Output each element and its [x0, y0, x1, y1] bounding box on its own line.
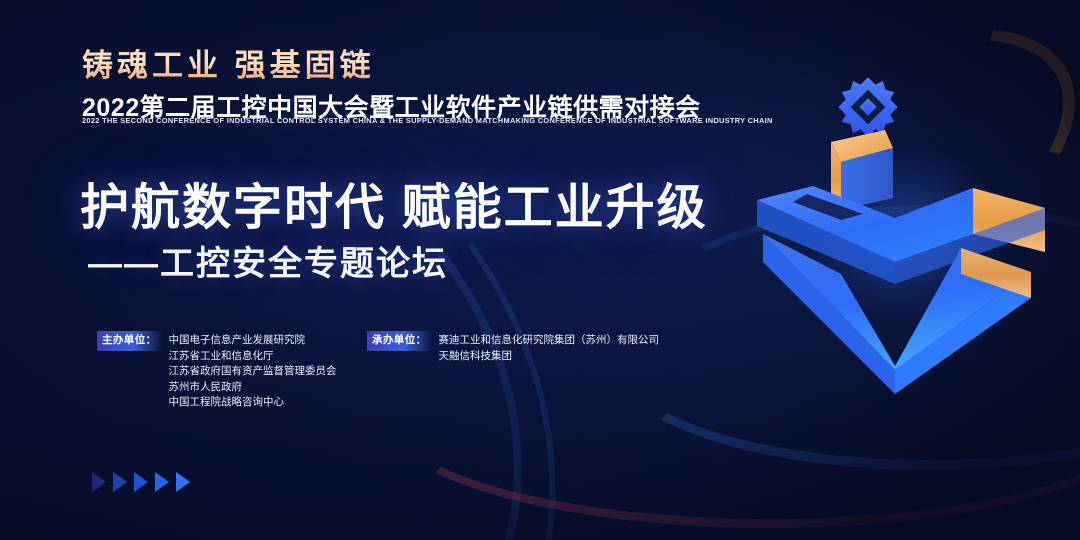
- list-item: 苏州市人民政府: [169, 380, 337, 396]
- arrow-shape: [745, 122, 1065, 402]
- organizer-label: 承办单位：: [367, 331, 433, 351]
- list-item: 江苏省政府国有资产监督管理委员会: [169, 364, 337, 380]
- conference-title-english: 2022 THE SECOND CONFERENCE OF INDUSTRIAL…: [82, 116, 773, 125]
- list-item: 天融信科技集团: [439, 349, 660, 365]
- triangle-icon: [155, 472, 169, 492]
- triangle-icon: [113, 472, 127, 492]
- running-organizers-block: 承办单位： 赛迪工业和信息化研究院集团（苏州）有限公司 天融信科技集团: [372, 333, 659, 364]
- list-item: 中国电子信息产业发展研究院: [169, 333, 337, 349]
- text-content: 铸魂工业 强基固链 2022第二届工控中国大会暨工业软件产业链供需对接会 202…: [0, 0, 740, 540]
- host-organizers-block: 主办单位： 中国电子信息产业发展研究院 江苏省工业和信息化厅 江苏省政府国有资产…: [102, 333, 337, 411]
- list-item: 中国工程院战略咨询中心: [169, 395, 337, 411]
- play-triangles: [92, 472, 190, 492]
- host-list: 中国电子信息产业发展研究院 江苏省工业和信息化厅 江苏省政府国有资产监督管理委员…: [169, 333, 337, 411]
- conference-banner: 铸魂工业 强基固链 2022第二届工控中国大会暨工业软件产业链供需对接会 202…: [0, 0, 1080, 540]
- forum-subheadline: ——工控安全专题论坛: [88, 236, 448, 285]
- triangle-icon: [92, 472, 106, 492]
- triangle-icon: [176, 472, 190, 492]
- triangle-icon: [134, 472, 148, 492]
- tagline: 铸魂工业 强基固链: [82, 40, 375, 85]
- main-headline: 护航数字时代 赋能工业升级: [80, 168, 708, 239]
- host-label: 主办单位：: [97, 331, 163, 351]
- list-item: 江苏省工业和信息化厅: [169, 349, 337, 365]
- organizer-list: 赛迪工业和信息化研究院集团（苏州）有限公司 天融信科技集团: [439, 333, 660, 364]
- list-item: 赛迪工业和信息化研究院集团（苏州）有限公司: [439, 333, 660, 349]
- down-arrow-3d-icon: [745, 70, 1065, 400]
